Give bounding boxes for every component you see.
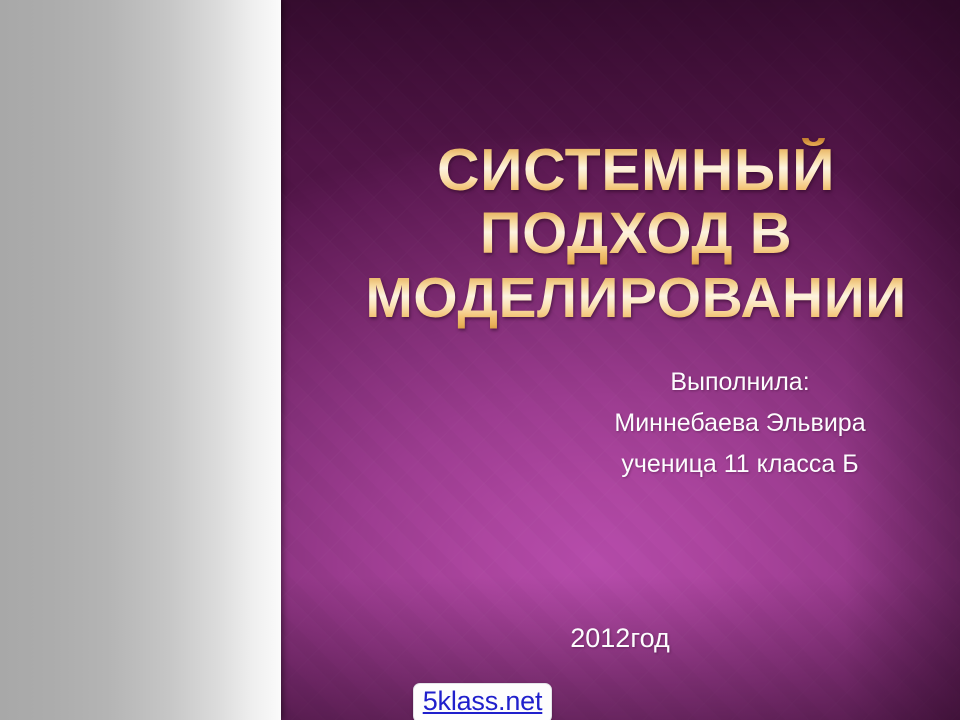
subtitle-line-author-class: ученица 11 класса Б (560, 444, 920, 485)
watermark-badge[interactable]: 5klass.net (413, 683, 552, 720)
subtitle-line-author-label: Выполнила: (560, 362, 920, 403)
title-line-3: моделировании (330, 266, 942, 330)
watermark-link[interactable]: 5klass.net (423, 685, 543, 717)
slide-subtitle: Выполнила: Миннебаева Эльвира ученица 11… (560, 362, 920, 485)
presentation-slide: Системный подход в моделировании Выполни… (0, 0, 960, 720)
left-gradient-panel (0, 0, 281, 720)
slide-title: Системный подход в моделировании (330, 138, 942, 330)
title-line-1: Системный (330, 138, 942, 202)
title-line-2: подход в (330, 202, 942, 266)
subtitle-line-author-name: Миннебаева Эльвира (560, 403, 920, 444)
slide-year: 2012год (480, 622, 760, 654)
